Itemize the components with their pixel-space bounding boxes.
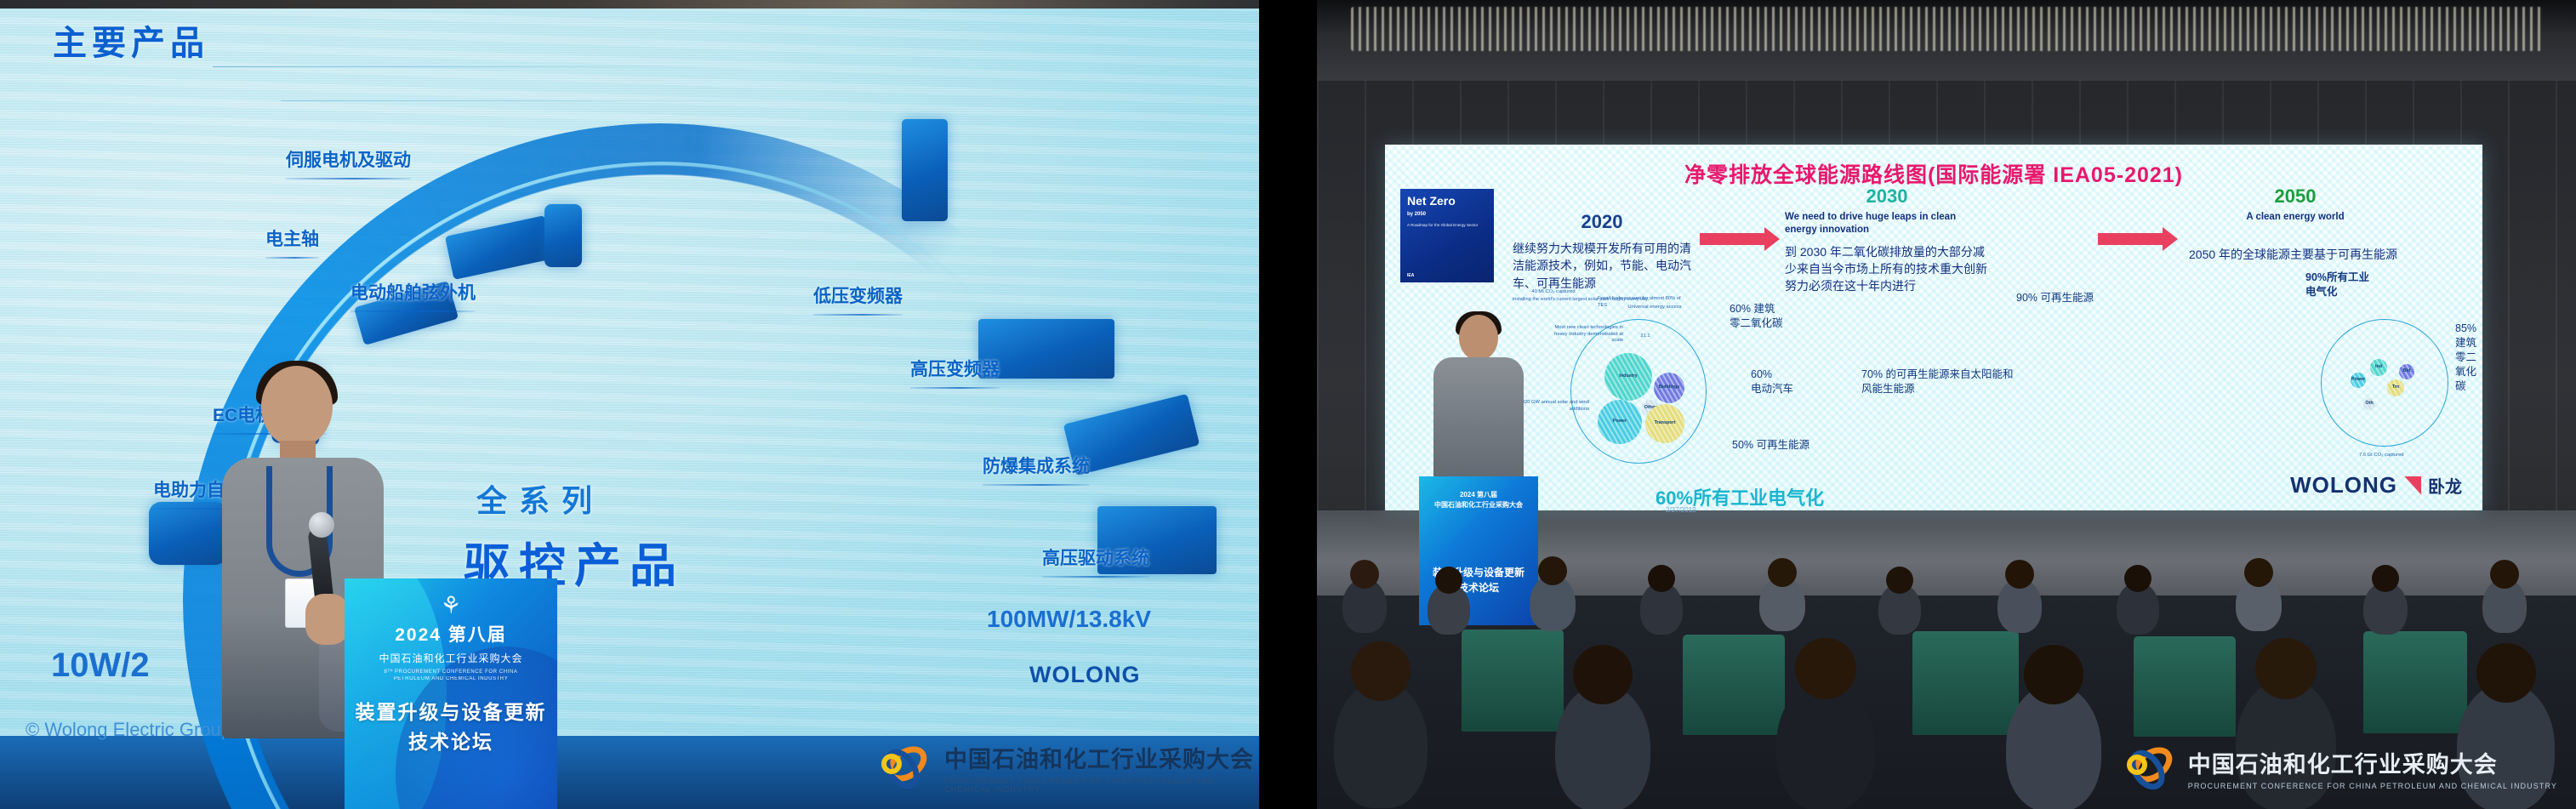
annotation-40mt: 40 Mt CO₂ captured: [1519, 289, 1587, 296]
watermark-cn-right: 中国石油和化工行业采购大会: [2188, 746, 2557, 779]
bubble-2050-power: Power: [2351, 373, 2366, 388]
product-label-spindle: 电主轴: [265, 225, 319, 259]
center-kicker-text: 全系列: [476, 476, 604, 521]
bubble-2050-industry: Ind: [2370, 359, 2387, 376]
spec-min-power: 10W/2: [51, 647, 150, 685]
column-2050-en: A clean energy world: [2189, 211, 2402, 224]
bubble-ring-2050: [2321, 319, 2448, 447]
spec-max-power: 100MW/13.8kV: [987, 606, 1151, 633]
lv-inverter-image: [902, 119, 948, 221]
right-photo-panel: 净零排放全球能源路线图(国际能源署 IEA05-2021) Net Zero b…: [1317, 0, 2576, 809]
annotation-70-solar-wind: 70% 的可再生能源来自太阳能和风能生能源: [1861, 367, 2023, 396]
bubble-2050-buildings: Bld: [2399, 364, 2414, 379]
bubble-industry: Industry: [1604, 353, 1652, 401]
right-ceiling-lights: [1317, 0, 2576, 89]
podium-forum-line2: 技术论坛: [345, 727, 557, 757]
conference-ring-logo-icon: [876, 738, 934, 796]
podium-forum-line1: 装置升级与设备更新: [345, 698, 557, 727]
annotation-50-renewables: 50% 可再生能源: [1732, 438, 1809, 453]
podium-conference-cn: 中国石油和化工行业采购大会: [345, 651, 557, 665]
right-projected-slide: 净零排放全球能源路线图(国际能源署 IEA05-2021) Net Zero b…: [1385, 145, 2482, 510]
podium-conference-en-1: 8ᵀᴴ PROCUREMENT CONFERENCE FOR CHINA: [345, 669, 557, 675]
right-podium-year: 2024 第八届: [1419, 490, 1538, 500]
column-2050: 2050 A clean energy world 2050 年的全球能源主要基…: [2189, 185, 2402, 263]
ebike-drive-image: [149, 502, 227, 565]
annotation-90-industry-electrified: 90%所有工业 电气化: [2305, 271, 2369, 299]
column-2030: 2030 We need to drive huge leaps in clea…: [1785, 185, 1989, 295]
left-slide-brand: WOLONG: [1029, 662, 1140, 688]
product-label-hv-inverter: 高压变频器: [910, 356, 1000, 389]
right-podium-header: 2024 第八届 中国石油和化工行业采购大会: [1419, 490, 1538, 510]
watermark-en: PROCUREMENT CONFERENCE FOR CHINA PETROLE…: [944, 777, 1259, 794]
bubble-2050-other: Oth: [2363, 398, 2375, 410]
product-label-marine: 电动船舶弦外机: [350, 279, 476, 312]
product-label-lv-inverter: 低压变频器: [813, 282, 903, 316]
brand-wolong-cn: 卧龙: [2428, 473, 2462, 498]
conference-logo-icon: ⚘: [345, 594, 557, 618]
right-slide-brand: WOLONG 卧龙: [2290, 472, 2462, 499]
right-podium-conference: 中国石油和化工行业采购大会: [1419, 500, 1538, 510]
bubble-buildings: Buildings: [1654, 373, 1684, 403]
slide-date: 2/27/2019: [1666, 506, 1696, 514]
year-2020: 2020: [1513, 211, 1691, 233]
column-2030-cn: 到 2030 年二氧化碳排放量的大部分减少来自当今市场上所有的技术重大创新努力必…: [1785, 243, 1989, 295]
screenshot-stage: 主要产品 伺服电机及驱动 电主轴 EC电机及驱动 电助力自行车驱动系统 电动船舶…: [0, 0, 2576, 809]
annotation-90-renewables: 90% 可再生能源: [2016, 291, 2094, 305]
watermark-cn: 中国石油和化工行业采购大会: [944, 741, 1259, 774]
bubble-total-2030: 21.1: [1620, 333, 1671, 340]
right-slide-title: 净零排放全球能源路线图(国际能源署 IEA05-2021): [1385, 158, 2482, 189]
left-slide-copyright: © Wolong Electric Group: [26, 719, 231, 741]
podium-logo-block: ⚘ 2024 第八届 中国石油和化工行业采购大会 8ᵀᴴ PROCUREMENT…: [345, 594, 557, 681]
right-speaker-head: [1459, 315, 1498, 361]
arrow-2030-to-2050: [2098, 233, 2164, 245]
left-podium-sign: ⚘ 2024 第八届 中国石油和化工行业采购大会 8ᵀᴴ PROCUREMENT…: [345, 578, 557, 809]
product-label-explosion-proof: 防爆集成系统: [983, 453, 1090, 486]
microphone-head-icon: [309, 512, 334, 538]
podium-forum-title: 装置升级与设备更新 技术论坛: [345, 698, 557, 756]
speaker-head: [261, 366, 333, 447]
year-2050: 2050: [2189, 185, 2402, 208]
netzero-line3: A Roadmap for the Global Energy Sector: [1407, 223, 1487, 228]
title-rule-1: [213, 66, 723, 67]
annotation-buildings-zero-carbon: 60% 建筑 零二氧化碳: [1730, 302, 1783, 331]
year-2030: 2030: [1785, 185, 1989, 208]
title-rule-2: [281, 100, 825, 101]
speaker-hand: [305, 594, 350, 645]
annotation-universal-access: Universal energy access: [1621, 305, 1688, 311]
column-2020-cn: 继续努力大规模开发所有可用的清洁能源技术，例如，节能、电动汽车、可再生能源: [1513, 240, 1691, 292]
product-label-servo: 伺服电机及驱动: [286, 146, 411, 179]
podium-year: 2024 第八届: [345, 621, 557, 647]
brand-wolong-en: WOLONG: [2290, 472, 2397, 499]
netzero-line2: by 2050: [1407, 212, 1487, 218]
bubble-transport: Transport: [1645, 404, 1684, 443]
panel-divider: [1259, 0, 1317, 809]
arrow-2020-to-2030: [1700, 233, 1766, 245]
left-watermark-text: 中国石油和化工行业采购大会 PROCUREMENT CONFERENCE FOR…: [944, 741, 1259, 794]
annotation-solar-wind: 1 020 GW annual solar and wind additions: [1514, 400, 1589, 413]
left-watermark: 中国石油和化工行业采购大会 PROCUREMENT CONFERENCE FOR…: [876, 738, 1259, 796]
netzero-line1: Net Zero: [1407, 195, 1487, 208]
annotation-heavy-industry: Most new clean technologies in heavy ind…: [1547, 325, 1623, 345]
bubble-power: Power: [1598, 400, 1642, 444]
marine-outboard-image: [544, 204, 582, 267]
annotation-ev: 60% 电动汽车: [1751, 367, 1793, 396]
column-2030-en: We need to drive huge leaps in clean ene…: [1785, 211, 1989, 236]
watermark-en-right: PROCUREMENT CONFERENCE FOR CHINA PETROLE…: [2188, 782, 2557, 790]
brand-mark-icon: [2404, 476, 2421, 495]
product-label-hv-drive: 高压驱动系统: [1042, 544, 1149, 578]
podium-conference-en-2: PETROLEUM AND CHEMICAL INDUSTRY: [345, 676, 557, 681]
right-watermark-text: 中国石油和化工行业采购大会 PROCUREMENT CONFERENCE FOR…: [2188, 746, 2557, 790]
right-watermark: 中国石油和化工行业采购大会 PROCUREMENT CONFERENCE FOR…: [2122, 739, 2557, 797]
conference-ring-logo-icon-right: [2122, 739, 2180, 797]
net-zero-report-cover: Net Zero by 2050 A Roadmap for the Globa…: [1400, 189, 1494, 282]
left-photo-panel: 主要产品 伺服电机及驱动 电主轴 EC电机及驱动 电助力自行车驱动系统 电动船舶…: [0, 0, 1259, 809]
left-slide-title: 主要产品: [53, 15, 209, 65]
annotation-captured-2050: 7.6 Gt CO₂ captured: [2359, 453, 2453, 459]
bubble-2050-transport: Trn: [2387, 379, 2404, 396]
column-2050-cn: 2050 年的全球能源主要基于可再生能源: [2189, 246, 2402, 263]
netzero-line4: IEA: [1407, 273, 1414, 278]
annotation-85-buildings: 85% 建筑 零二氧化碳: [2455, 322, 2482, 393]
